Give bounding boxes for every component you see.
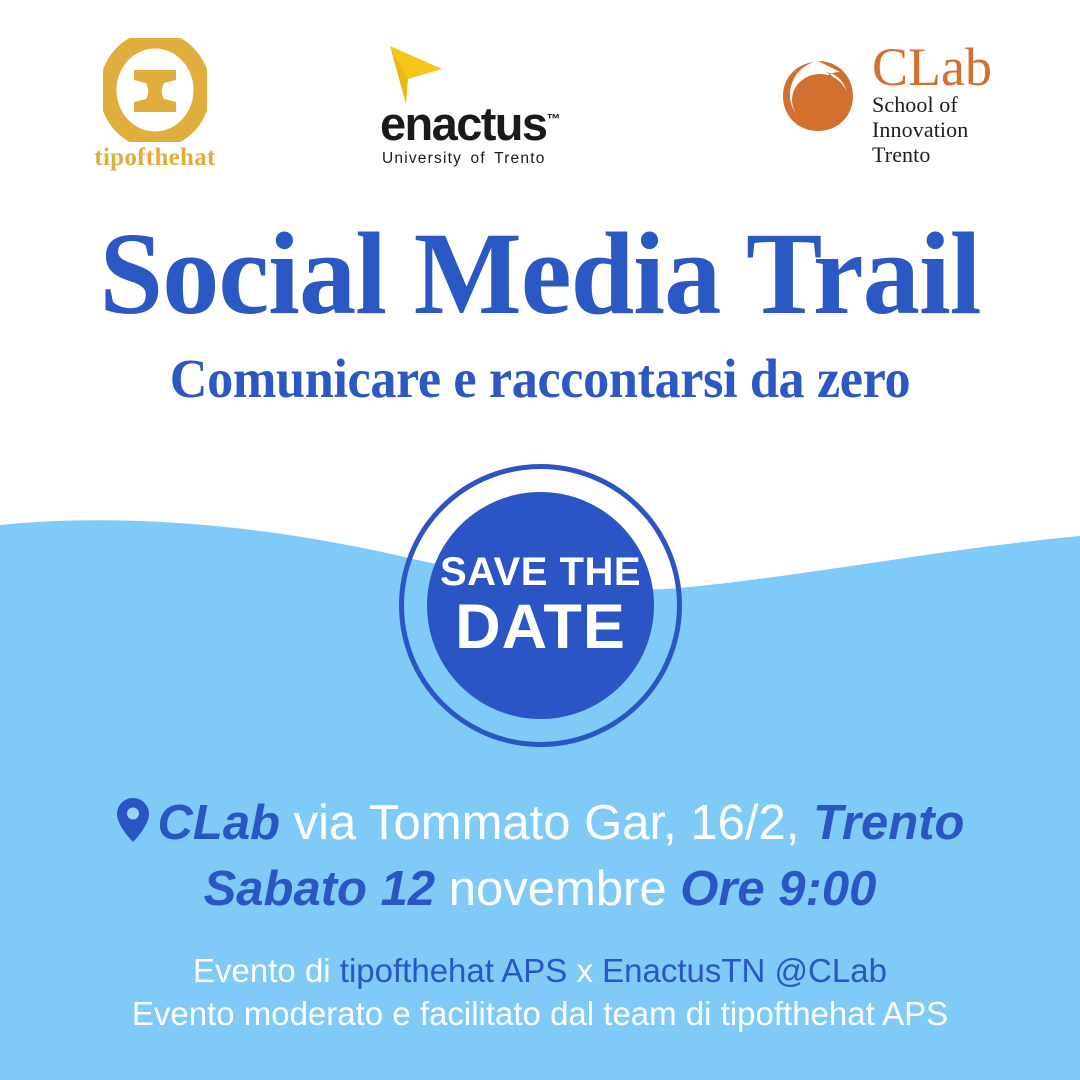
event-footer: Evento di tipofthehat APS x EnactusTN @C… — [0, 950, 1080, 1036]
event-datetime-line: Sabato 12 novembre Ore 9:00 — [0, 861, 1080, 919]
map-pin-icon — [116, 797, 150, 843]
footer-org-primary: tipofthehat APS — [340, 952, 568, 989]
badge-inner-disc: SAVE THE DATE — [427, 492, 654, 719]
logo-clab-wordmark: CLab — [872, 42, 1042, 93]
event-date-month: novembre — [449, 862, 667, 916]
event-date-day: Sabato 12 — [204, 862, 435, 916]
logo-row: tipofthehat enactus™ University of Trent… — [0, 0, 1080, 190]
event-location-line: CLab via Tommato Gar, 16/2, Trento — [0, 795, 1080, 853]
footer-prefix: Evento di — [193, 952, 340, 989]
logo-enactus-trademark: ™ — [546, 110, 560, 126]
footer-org-secondary: EnactusTN @CLab — [602, 952, 887, 989]
logo-clab-tagline-line2: Trento — [872, 143, 1042, 168]
footer-separator: x — [567, 952, 602, 989]
clab-spiral-icon — [772, 48, 864, 140]
logo-clab-tagline-line1: School of Innovation — [872, 93, 1042, 142]
poster-canvas: tipofthehat enactus™ University of Trent… — [0, 0, 1080, 1080]
footer-line-1: Evento di tipofthehat APS x EnactusTN @C… — [0, 950, 1080, 993]
logo-enactus-wordmark-text: enactus — [380, 97, 546, 150]
event-time: Ore 9:00 — [680, 862, 876, 916]
logo-enactus-tagline: University of Trento — [382, 150, 580, 168]
badge-label-date: DATE — [455, 596, 626, 659]
logo-enactus-wordmark: enactus™ — [380, 100, 580, 147]
event-city: Trento — [813, 796, 965, 850]
badge-label-save-the: SAVE THE — [440, 552, 641, 592]
logo-tipofthehat: tipofthehat — [40, 38, 270, 172]
headline-block: Social Media Trail Comunicare e racconta… — [0, 215, 1080, 406]
event-details: CLab via Tommato Gar, 16/2, Trento Sabat… — [0, 795, 1080, 919]
hat-in-ring-icon — [103, 38, 207, 142]
logo-tipofthehat-wordmark: tipofthehat — [40, 144, 270, 172]
event-venue: CLab — [158, 796, 281, 850]
save-the-date-badge: SAVE THE DATE — [399, 464, 682, 747]
logo-enactus: enactus™ University of Trento — [380, 44, 580, 168]
event-address: via Tommato Gar, 16/2, — [294, 796, 800, 850]
logo-clab: CLab School of Innovation Trento — [772, 42, 1042, 167]
footer-line-2: Evento moderato e facilitato dal team di… — [0, 993, 1080, 1036]
page-title: Social Media Trail — [16, 215, 1064, 333]
page-subtitle: Comunicare e raccontarsi da zero — [27, 351, 1053, 406]
